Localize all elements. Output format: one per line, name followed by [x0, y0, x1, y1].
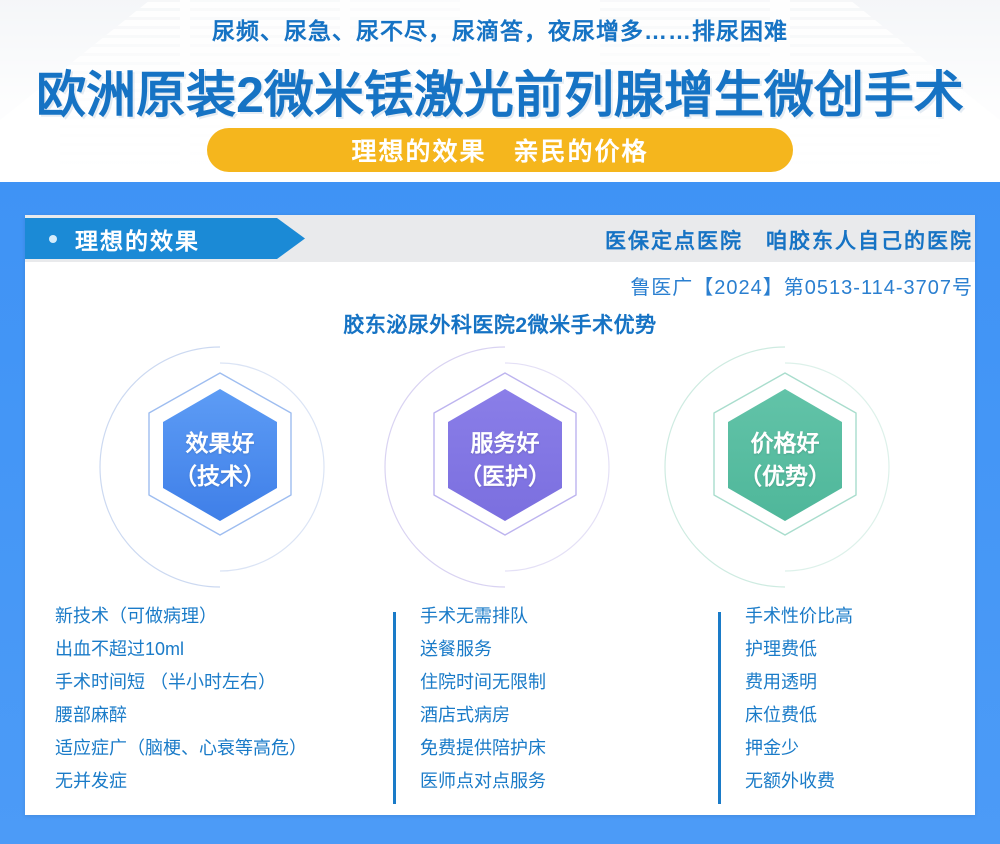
hexagon-graphic	[355, 345, 655, 590]
list-item: 手术性价比高	[745, 600, 975, 633]
list-item: 手术时间短 （半小时左右）	[55, 666, 375, 699]
list-item: 免费提供陪护床	[420, 732, 720, 765]
list-item: 费用透明	[745, 666, 975, 699]
list-item: 无额外收费	[745, 765, 975, 798]
poster-page: 尿频、尿急、尿不尽，尿滴答，夜尿增多……排尿困难 欧洲原装2微米铥激光前列腺增生…	[0, 0, 1000, 844]
feature-column-service: 手术无需排队 送餐服务 住院时间无限制 酒店式病房 免费提供陪护床 医师点对点服…	[420, 600, 720, 815]
feature-list: 新技术（可做病理） 出血不超过10ml 手术时间短 （半小时左右） 腰部麻醉 适…	[55, 600, 375, 798]
hexagon-row: 效果好 （技术） 服务好 （医护）	[25, 345, 975, 590]
list-item: 出血不超过10ml	[55, 633, 375, 666]
column-divider	[393, 612, 396, 804]
bullet-dot-icon	[49, 235, 57, 243]
list-item: 床位费低	[745, 699, 975, 732]
feature-columns: 新技术（可做病理） 出血不超过10ml 手术时间短 （半小时左右） 腰部麻醉 适…	[25, 600, 975, 815]
ad-license-number: 鲁医广【2024】第0513-114-3707号	[630, 271, 973, 300]
section-subtitle: 胶东泌尿外科医院2微米手术优势	[0, 309, 1000, 339]
section-tab[interactable]: 理想的效果	[25, 218, 305, 259]
feature-column-price: 手术性价比高 护理费低 费用透明 床位费低 押金少 无额外收费	[745, 600, 975, 815]
banner-headline: 欧洲原装2微米铥激光前列腺增生微创手术	[0, 55, 1000, 127]
list-item: 护理费低	[745, 633, 975, 666]
section-tab-label: 理想的效果	[75, 222, 200, 256]
list-item: 住院时间无限制	[420, 666, 720, 699]
hexagon-badge: 效果好 （技术）	[70, 345, 370, 590]
hospital-tagline: 医保定点医院 咱胶东人自己的医院	[605, 225, 973, 255]
list-item: 医师点对点服务	[420, 765, 720, 798]
list-item: 手术无需排队	[420, 600, 720, 633]
list-item: 押金少	[745, 732, 975, 765]
column-divider	[718, 612, 721, 804]
highlight-pill-label: 理想的效果 亲民的价格	[351, 132, 648, 168]
hexagon-graphic	[70, 345, 370, 590]
list-item: 腰部麻醉	[55, 699, 375, 732]
feature-list: 手术性价比高 护理费低 费用透明 床位费低 押金少 无额外收费	[745, 600, 975, 798]
hexagon-graphic	[635, 345, 935, 590]
list-item: 无并发症	[55, 765, 375, 798]
feature-column-technique: 新技术（可做病理） 出血不超过10ml 手术时间短 （半小时左右） 腰部麻醉 适…	[55, 600, 375, 815]
feature-list: 手术无需排队 送餐服务 住院时间无限制 酒店式病房 免费提供陪护床 医师点对点服…	[420, 600, 720, 798]
highlight-pill: 理想的效果 亲民的价格	[207, 128, 793, 172]
list-item: 适应症广（脑梗、心衰等高危）	[55, 732, 375, 765]
list-item: 送餐服务	[420, 633, 720, 666]
list-item: 新技术（可做病理）	[55, 600, 375, 633]
hexagon-badge: 服务好 （医护）	[355, 345, 655, 590]
banner-kicker: 尿频、尿急、尿不尽，尿滴答，夜尿增多……排尿困难	[0, 12, 1000, 46]
list-item: 酒店式病房	[420, 699, 720, 732]
hexagon-badge: 价格好 （优势）	[635, 345, 935, 590]
